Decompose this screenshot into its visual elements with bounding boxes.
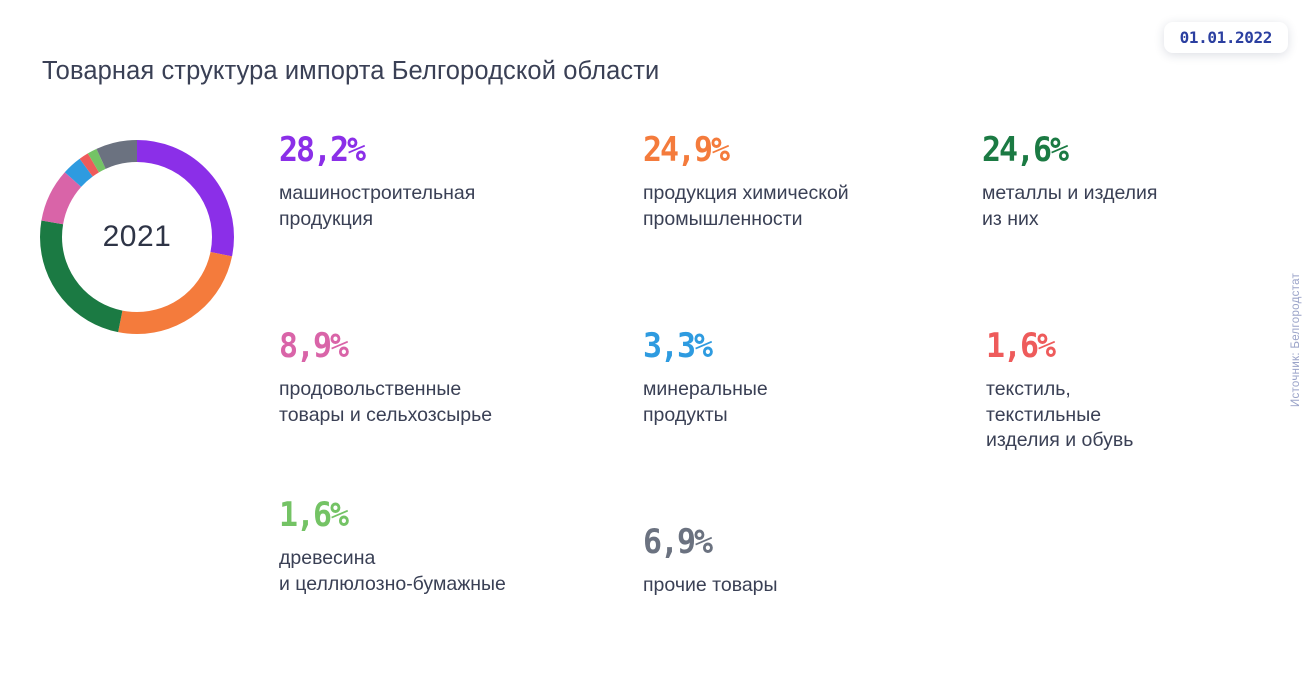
- legend-item-textile-and-footwear[interactable]: 1,6% текстиль, текстильные изделия и обу…: [986, 329, 1276, 454]
- legend-label-wood-and-pulp-paper: древесина и целлюлозно-бумажные: [279, 546, 619, 597]
- legend-label-food-and-agriculture: продовольственные товары и сельхозсырье: [279, 377, 609, 428]
- legend-value-mineral-products: 3,3%: [643, 329, 922, 363]
- legend-value-chemical-industry: 24,9%: [643, 133, 950, 167]
- legend-item-chemical-industry[interactable]: 24,9% продукция химической промышленност…: [643, 133, 973, 232]
- legend-item-other-goods[interactable]: 6,9% прочие товары: [643, 525, 943, 599]
- donut-center-year-label: 2021: [40, 140, 234, 334]
- legend-value-food-and-agriculture: 8,9%: [279, 329, 586, 363]
- legend-value-textile-and-footwear: 1,6%: [986, 329, 1256, 363]
- legend-item-food-and-agriculture[interactable]: 8,9% продовольственные товары и сельхозс…: [279, 329, 609, 428]
- legend-value-mechanical-engineering: 28,2%: [279, 133, 586, 167]
- source-note: Источник: Белгородстат: [1290, 272, 1302, 406]
- legend-label-mineral-products: минеральные продукты: [643, 377, 943, 428]
- legend-value-wood-and-pulp-paper: 1,6%: [279, 498, 595, 532]
- legend-label-textile-and-footwear: текстиль, текстильные изделия и обувь: [986, 377, 1276, 454]
- legend-label-other-goods: прочие товары: [643, 573, 943, 599]
- legend-value-metals: 24,6%: [982, 133, 1252, 167]
- legend-value-other-goods: 6,9%: [643, 525, 922, 559]
- date-badge: 01.01.2022: [1164, 22, 1288, 53]
- legend-label-chemical-industry: продукция химической промышленности: [643, 181, 973, 232]
- legend-item-metals[interactable]: 24,6% металлы и изделия из них: [982, 133, 1272, 232]
- legend-item-mineral-products[interactable]: 3,3% минеральные продукты: [643, 329, 943, 428]
- page-title: Товарная структура импорта Белгородской …: [42, 57, 659, 86]
- legend-label-mechanical-engineering: машиностроительная продукция: [279, 181, 609, 232]
- legend-item-mechanical-engineering[interactable]: 28,2% машиностроительная продукция: [279, 133, 609, 232]
- donut-chart: 2021: [40, 140, 234, 334]
- legend-label-metals: металлы и изделия из них: [982, 181, 1272, 232]
- legend-item-wood-and-pulp-paper[interactable]: 1,6% древесина и целлюлозно-бумажные: [279, 498, 619, 597]
